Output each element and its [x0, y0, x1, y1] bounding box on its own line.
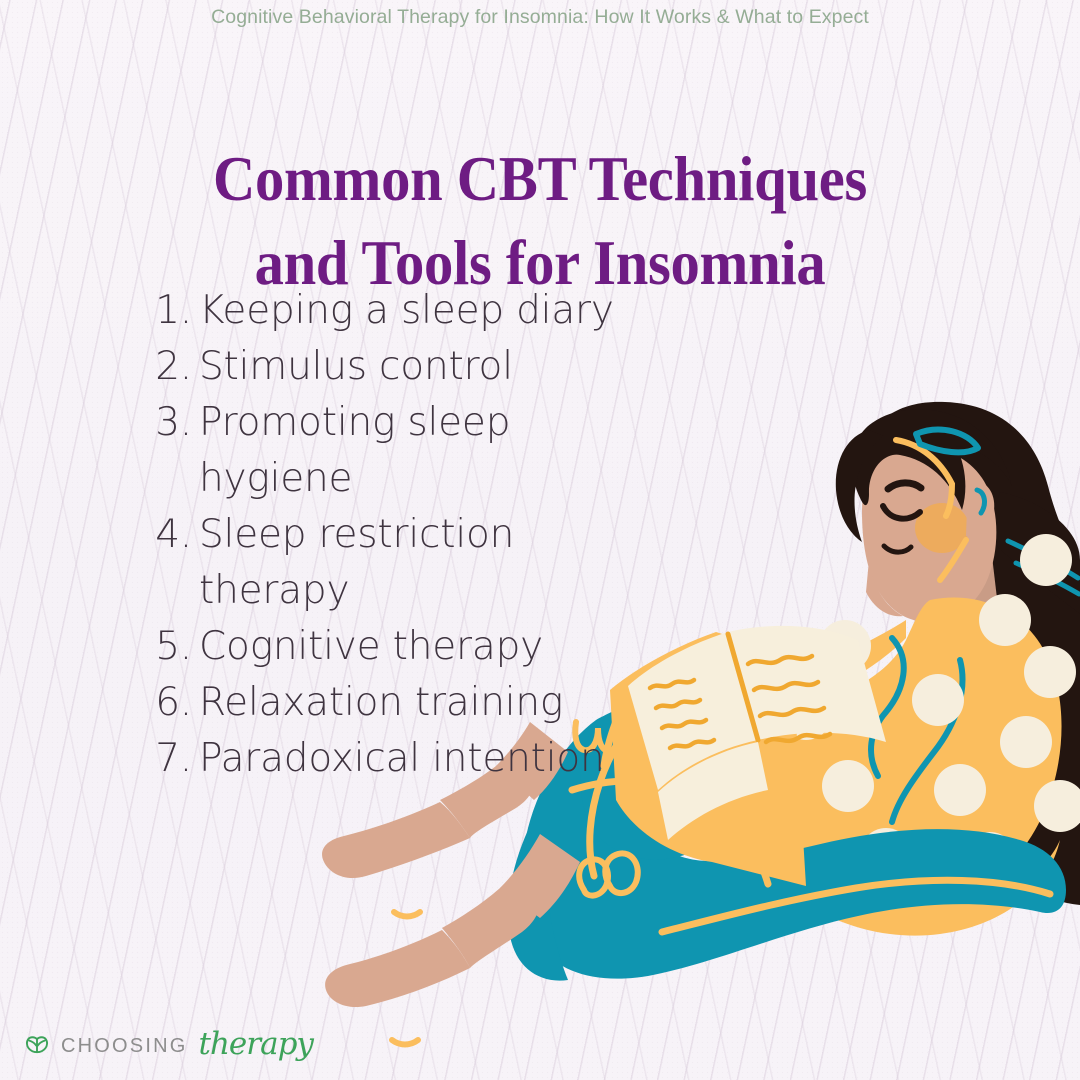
choosing-therapy-logo[interactable]: CHOOSING therapy — [22, 1030, 313, 1062]
mouth — [884, 546, 911, 552]
pants-trim-lines — [572, 700, 1050, 932]
list-item-number: 3. — [0, 395, 199, 451]
list-item-label: Keeping a sleep diary — [199, 283, 620, 339]
thumb — [750, 764, 790, 788]
forearm — [694, 768, 792, 844]
ankle-lower — [442, 880, 540, 968]
shin-lower — [500, 834, 580, 918]
list-item: 6. Relaxation training — [0, 675, 620, 731]
page-title: Common CBT Techniques and Tools for Inso… — [38, 138, 1042, 306]
sweater-fold-lines — [871, 638, 962, 822]
sweater-polka-dots — [780, 534, 1080, 884]
hair-front — [836, 409, 1012, 542]
logo-word-therapy: therapy — [199, 1026, 313, 1062]
closed-eye — [883, 506, 920, 519]
hair-teal-highlight — [916, 430, 978, 453]
jaw-accent — [940, 540, 966, 580]
list-item-number: 6. — [0, 675, 199, 731]
face — [862, 448, 996, 622]
ear-accent — [977, 490, 984, 513]
list-item-number: 2. — [0, 339, 199, 395]
hand-palm — [680, 724, 760, 801]
list-item: 4. Sleep restriction therapy — [0, 507, 620, 619]
list-item: 7. Paradoxical intention — [0, 731, 620, 787]
neck — [912, 556, 1000, 628]
list-item: 3. Promoting sleep hygiene — [0, 395, 620, 507]
list-item-number: 7. — [0, 731, 199, 787]
foot-upper — [322, 802, 470, 878]
eyebrow — [888, 483, 921, 489]
list-item-label: Paradoxical intention — [199, 731, 620, 787]
list-item: 2. Stimulus control — [0, 339, 620, 395]
cheek-blush — [915, 503, 969, 553]
lotus-flower-icon — [22, 1031, 52, 1061]
fingers — [680, 700, 750, 760]
open-book — [610, 626, 886, 886]
logo-word-choosing: CHOOSING — [61, 1035, 188, 1058]
foot-lower — [325, 930, 470, 1007]
list-item-label: Cognitive therapy — [199, 619, 620, 675]
list-item-label: Stimulus control — [199, 339, 620, 395]
hair-teal-streaks — [1008, 541, 1079, 594]
ear — [966, 480, 994, 537]
hair-yellow-highlight — [896, 440, 952, 516]
page-header-title: Cognitive Behavioral Therapy for Insomni… — [0, 6, 1080, 29]
list-item-number: 5. — [0, 619, 199, 675]
list-item: 1. Keeping a sleep diary — [0, 283, 620, 339]
hair-back — [866, 402, 1080, 905]
list-item-label: Promoting sleep hygiene — [199, 395, 620, 507]
list-item-label: Relaxation training — [199, 675, 620, 731]
page-title-line-1: Common CBT Techniques — [38, 138, 1042, 222]
infographic-canvas: Cognitive Behavioral Therapy for Insomni… — [0, 0, 1080, 1080]
toe-accents — [392, 912, 420, 1045]
list-item-number: 1. — [0, 283, 199, 339]
list-item: 5. Cognitive therapy — [0, 619, 620, 675]
techniques-list: 1. Keeping a sleep diary 2. Stimulus con… — [0, 283, 620, 787]
list-item-label: Sleep restriction therapy — [199, 507, 620, 619]
sweater-torso — [746, 597, 1061, 911]
list-item-number: 4. — [0, 507, 199, 563]
